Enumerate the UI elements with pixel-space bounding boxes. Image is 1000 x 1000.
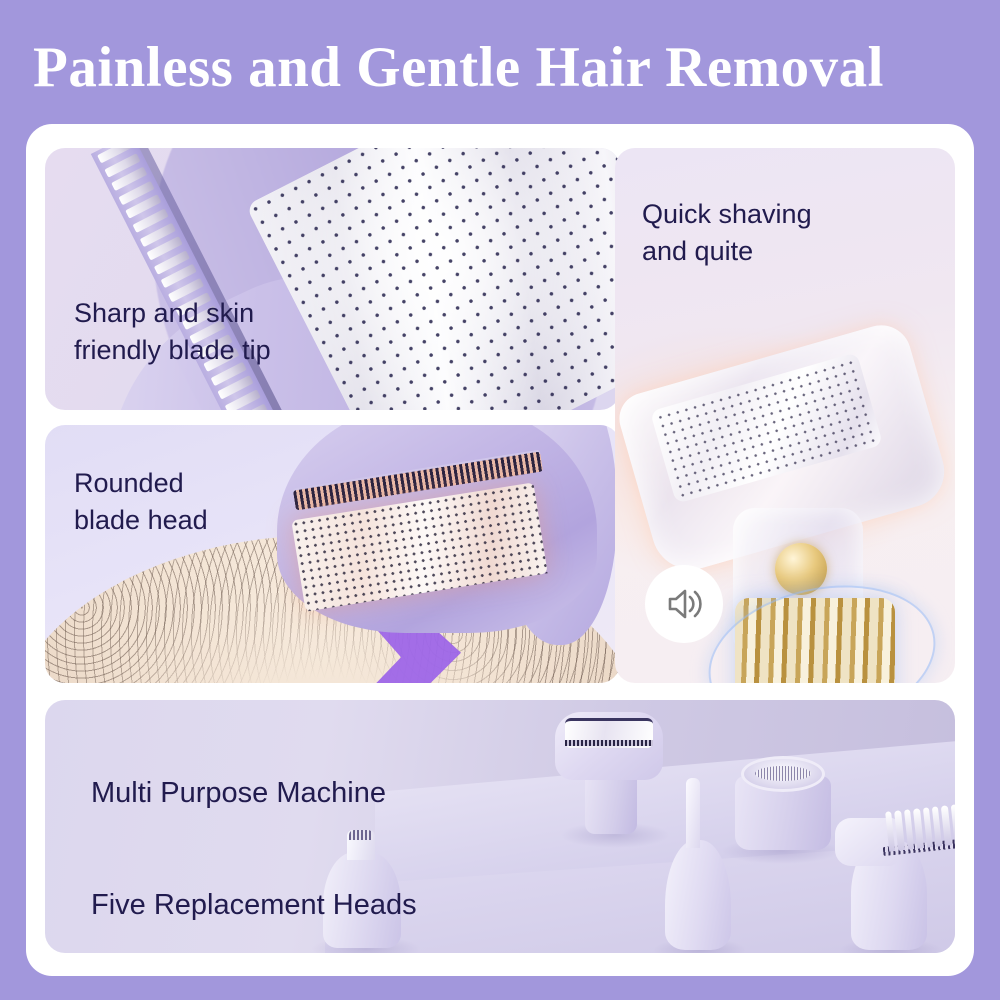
product-feature-poster: Painless and Gentle Hair Removal Sharp a… bbox=[0, 0, 1000, 1000]
panel-label-multi-purpose: Multi Purpose Machine Five Replacement H… bbox=[91, 765, 417, 933]
panel-label-rounded-blade-head: Rounded blade head bbox=[74, 465, 208, 539]
panel-rounded-blade-head: Rounded blade head bbox=[45, 425, 620, 683]
quiet-operation-badge bbox=[645, 565, 723, 643]
head-precision-trimmer bbox=[665, 840, 731, 950]
head-comb-trimmer-teeth bbox=[885, 804, 955, 851]
panel-label-sharp-blade-tip: Sharp and skin friendly blade tip bbox=[74, 295, 271, 369]
head-rotary-shaver-top bbox=[741, 756, 825, 792]
panel-multi-purpose: Multi Purpose Machine Five Replacement H… bbox=[45, 700, 955, 953]
page-title: Painless and Gentle Hair Removal bbox=[33, 36, 983, 100]
head-foil-shaver-plate bbox=[565, 718, 653, 748]
speaker-volume-icon bbox=[662, 582, 706, 626]
feature-card: Sharp and skin friendly blade tip Rounde… bbox=[26, 124, 974, 976]
panel-quick-shaving: Quick shaving and quite bbox=[615, 148, 955, 683]
panel-label-quick-shaving: Quick shaving and quite bbox=[642, 196, 812, 270]
panel-sharp-blade-tip: Sharp and skin friendly blade tip bbox=[45, 148, 620, 410]
head-precision-trimmer-stem bbox=[686, 778, 700, 848]
head-foil-shaver-stem bbox=[585, 772, 637, 834]
